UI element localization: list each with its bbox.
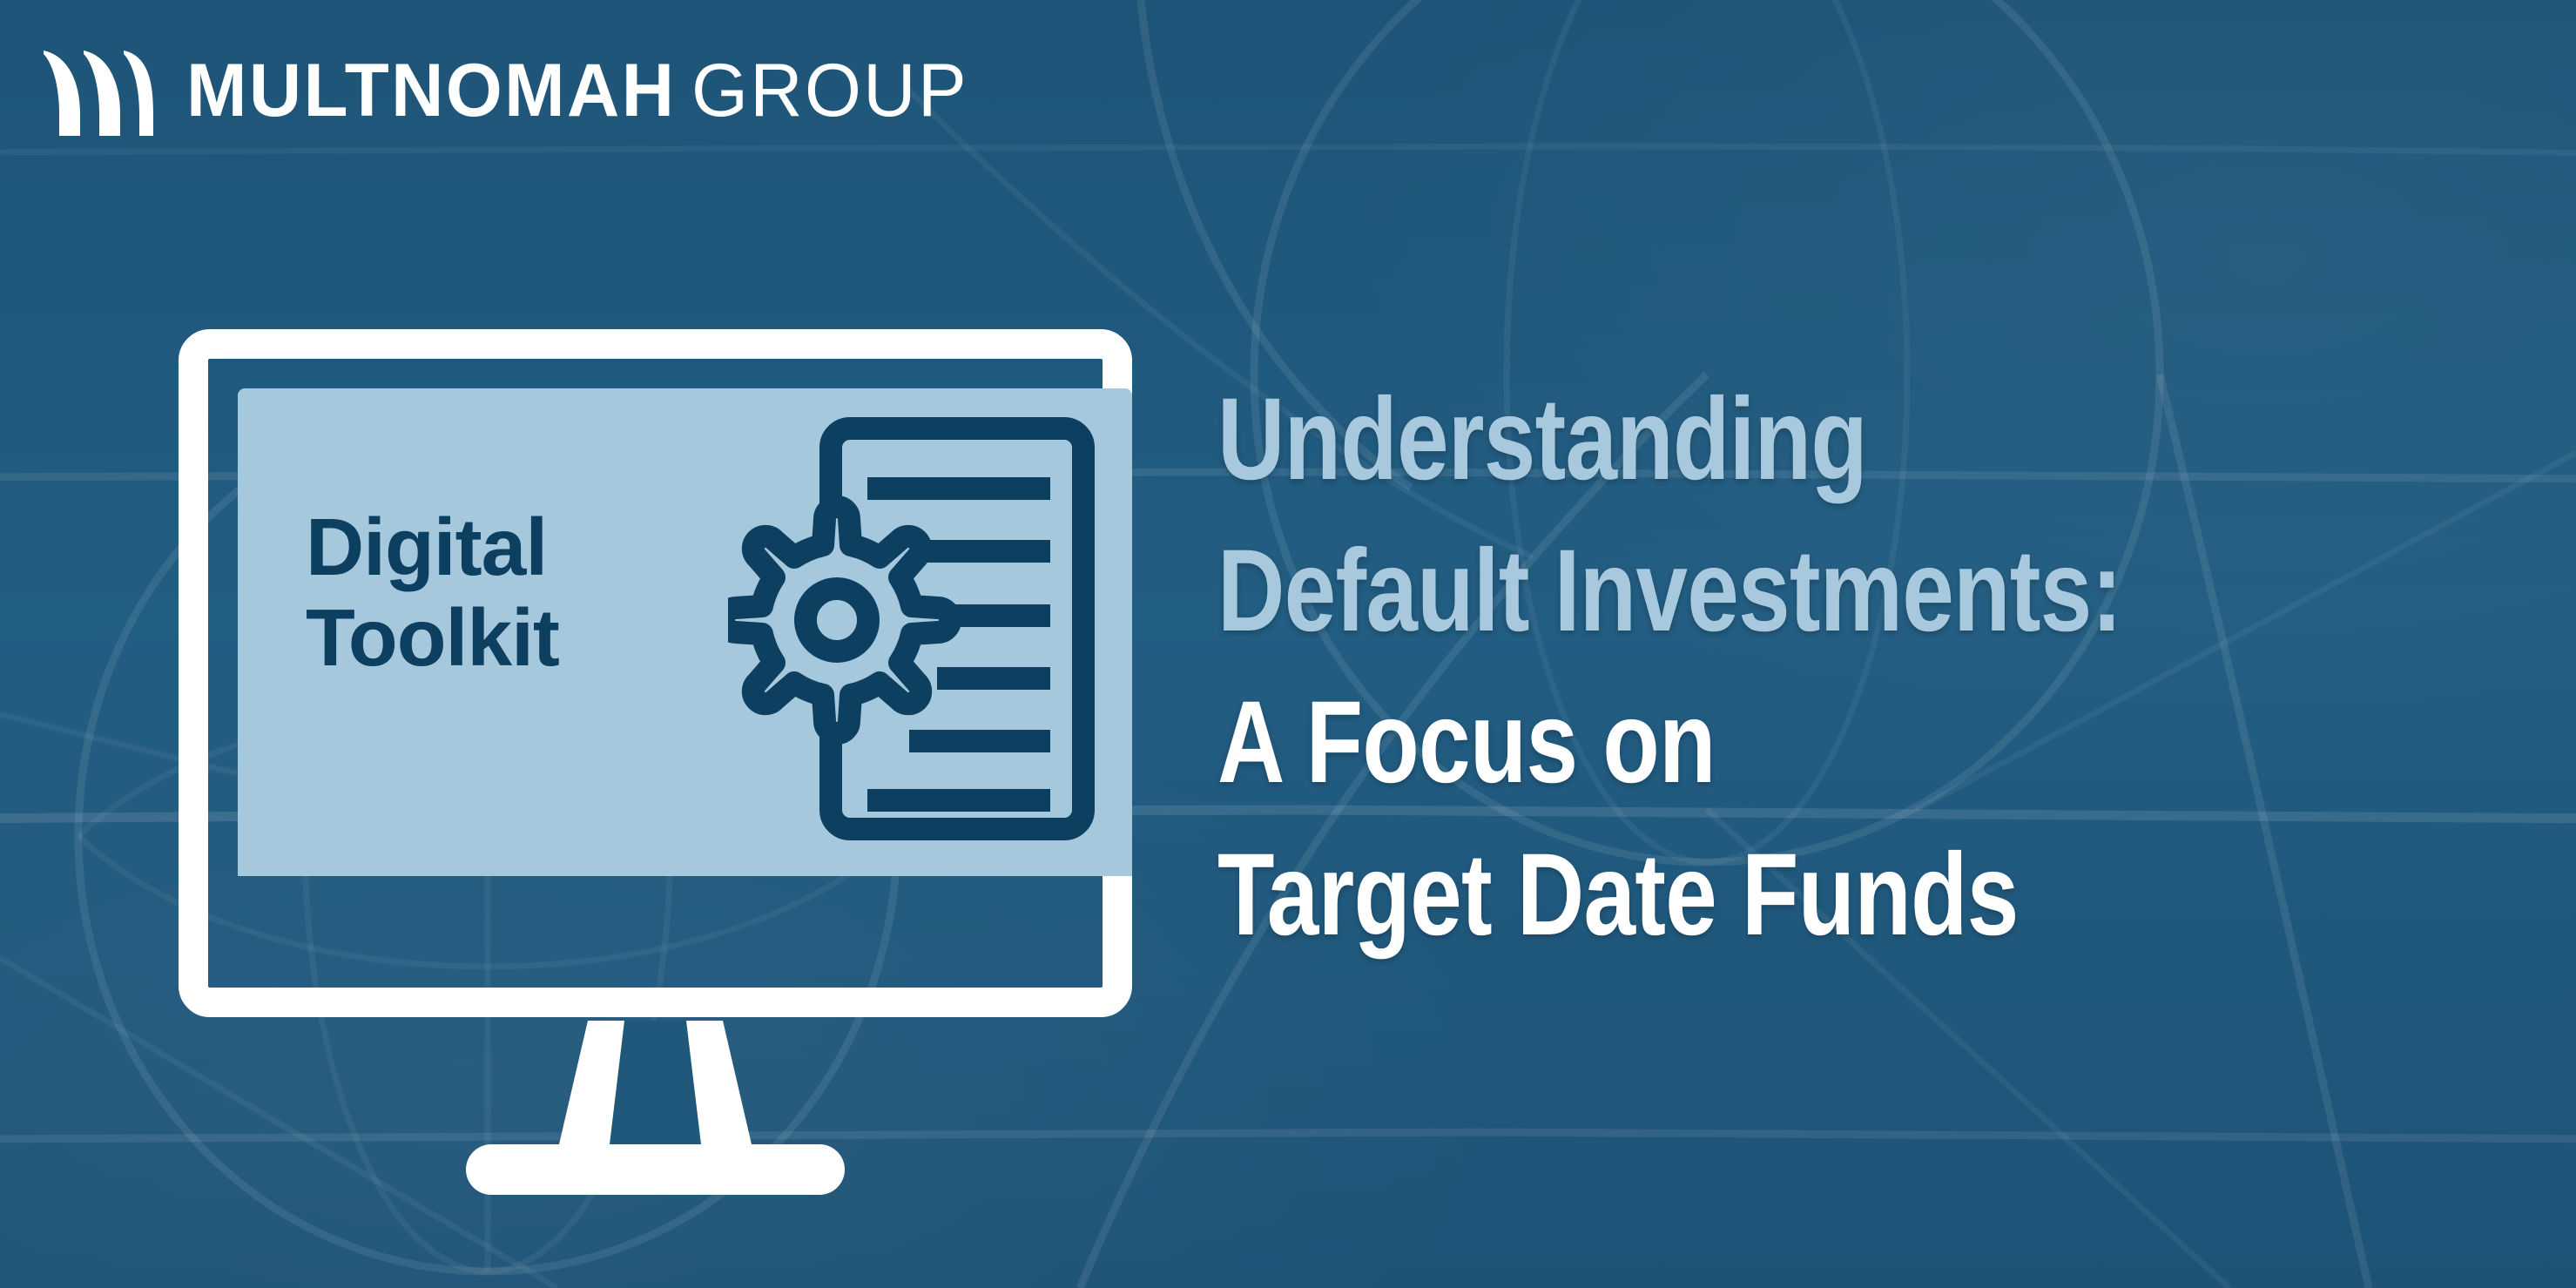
brand-logo[interactable]: MULTNOMAH GROUP — [42, 45, 977, 136]
headline-block: Understanding Default Investments: A Foc… — [1217, 364, 2506, 971]
screen-title: Digital Toolkit — [306, 502, 559, 683]
brand-wordmark: MULTNOMAH GROUP — [186, 53, 977, 128]
gear-document-icon — [728, 411, 1103, 846]
monitor-illustration: Digital Toolkit — [179, 329, 1154, 1200]
brand-name-strong: MULTNOMAH — [186, 53, 676, 128]
multnomah-wave-mark-icon — [42, 45, 153, 136]
brand-name-light: GROUP — [691, 53, 968, 128]
monitor-screen: Digital Toolkit — [238, 388, 1132, 876]
headline-line-3: A Focus on — [1217, 667, 2249, 819]
headline-line-2: Default Investments: — [1217, 516, 2249, 667]
monitor-stand — [179, 1014, 1132, 1201]
headline-line-1: Understanding — [1217, 364, 2249, 516]
headline-line-4: Target Date Funds — [1217, 819, 2249, 971]
promotional-banner: .ln{fill:none;stroke:#ffffff;stroke-opac… — [0, 0, 2576, 1288]
monitor-frame: Digital Toolkit — [179, 329, 1132, 1017]
